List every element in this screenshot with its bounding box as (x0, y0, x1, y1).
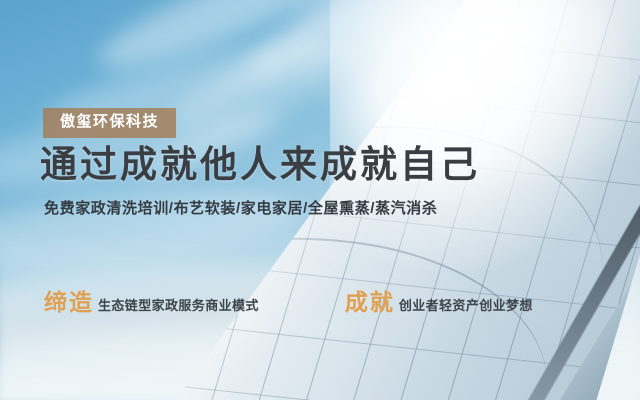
tagline-row: 缔造 生态链型家政服务商业模式 成就 创业者轻资产创业梦想 (44, 283, 604, 317)
brand-badge: 傲玺环保科技 (43, 108, 176, 138)
tagline-secondary: 成就 创业者轻资产创业梦想 (345, 283, 533, 317)
tagline-primary-lead: 缔造 (44, 283, 94, 317)
tagline-secondary-lead: 成就 (345, 283, 395, 317)
tagline-secondary-text: 创业者轻资产创业梦想 (399, 295, 533, 314)
promo-banner: 傲玺环保科技 通过成就他人来成就自己 免费家政清洗培训/布艺软装/家电家居/全屋… (0, 0, 640, 400)
tagline-primary-text: 生态链型家政服务商业模式 (98, 295, 259, 314)
headline: 通过成就他人来成就自己 (40, 144, 480, 185)
service-list-subtitle: 免费家政清洗培训/布艺软装/家电家居/全屋熏蒸/蒸汽消杀 (44, 197, 437, 218)
tagline-primary: 缔造 生态链型家政服务商业模式 (44, 283, 259, 317)
banner-content: 傲玺环保科技 通过成就他人来成就自己 免费家政清洗培训/布艺软装/家电家居/全屋… (0, 0, 640, 400)
